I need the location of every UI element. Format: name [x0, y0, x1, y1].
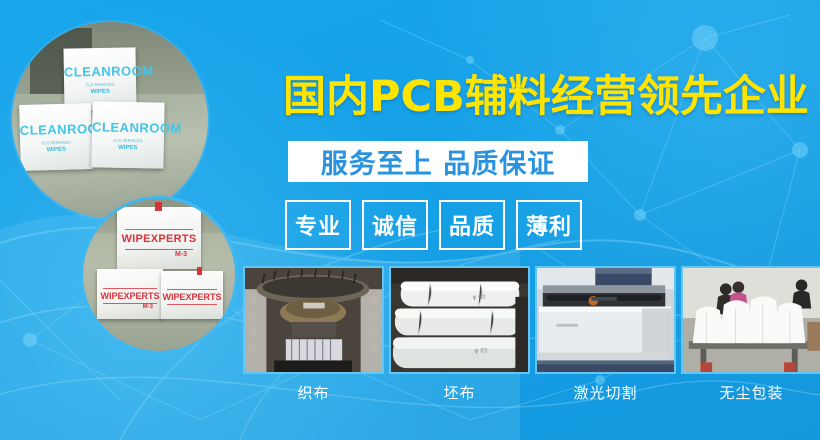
thumbnail-caption: 坯布 [389, 382, 530, 403]
thumbnail-frame [535, 266, 676, 374]
process-thumbnail-laser-cutting: 激光切割 [535, 266, 676, 403]
cleanroom-packing-photo [683, 268, 820, 372]
wipexperts-pack: WIPEXPERTS [161, 271, 223, 319]
fabric-rolls-photo: φ 60 φ 65 [391, 268, 528, 372]
feature-tag-low-margin: 薄利 [516, 200, 582, 250]
cleanroom-wipes-photo: CLEANROOM CLS SERVICES WIPES CLEANROOM C… [12, 22, 208, 218]
feature-tag-professional: 专业 [285, 200, 351, 250]
process-thumbnail-weaving: 织布 [243, 266, 384, 403]
promotional-banner: CLEANROOM CLS SERVICES WIPES CLEANROOM C… [0, 0, 820, 440]
feature-tag-quality: 品质 [439, 200, 505, 250]
process-thumbnail-cleanroom-packing: 无尘包装 [681, 266, 820, 403]
wipes-pack: CLEANROOM CLS SERVICES WIPES [91, 101, 164, 168]
process-thumbnail-greige-fabric: φ 60 φ 65 坯布 [389, 266, 530, 403]
wipexperts-pack: WIPEXPERTS M-3 [97, 269, 163, 319]
process-thumbnail-row: 织布 [243, 266, 820, 403]
thumbnail-caption: 织布 [243, 382, 384, 403]
laser-cutting-machine-photo [537, 268, 674, 372]
subheadline-box: 服务至上 品质保证 [288, 141, 588, 182]
wipexperts-photo: WIPEXPERTS M-3 WIPEXPERTS M-3 WIPEXPERTS [80, 196, 238, 354]
wipes-pack: CLEANROOM CLS SERVICES WIPES [19, 103, 93, 171]
thumbnail-frame [243, 266, 384, 374]
subheadline-text: 服务至上 品质保证 [321, 142, 555, 181]
feature-tag-list: 专业 诚信 品质 薄利 [285, 200, 582, 250]
banner-headline: 国内PCB辅料经营领先企业 [283, 72, 809, 122]
thumbnail-frame: φ 60 φ 65 [389, 266, 530, 374]
svg-text:φ 65: φ 65 [475, 349, 488, 355]
svg-text:φ 60: φ 60 [473, 295, 486, 301]
wipexperts-pack: WIPEXPERTS M-3 [117, 207, 201, 269]
wipexperts-photo-backdrop: WIPEXPERTS M-3 WIPEXPERTS M-3 WIPEXPERTS [83, 199, 235, 351]
thumbnail-frame [681, 266, 820, 374]
thumbnail-caption: 激光切割 [535, 382, 676, 403]
cleanroom-photo-backdrop: CLEANROOM CLS SERVICES WIPES CLEANROOM C… [12, 22, 208, 218]
knitting-machine-photo [245, 268, 382, 372]
feature-tag-integrity: 诚信 [362, 200, 428, 250]
thumbnail-caption: 无尘包装 [681, 382, 820, 403]
